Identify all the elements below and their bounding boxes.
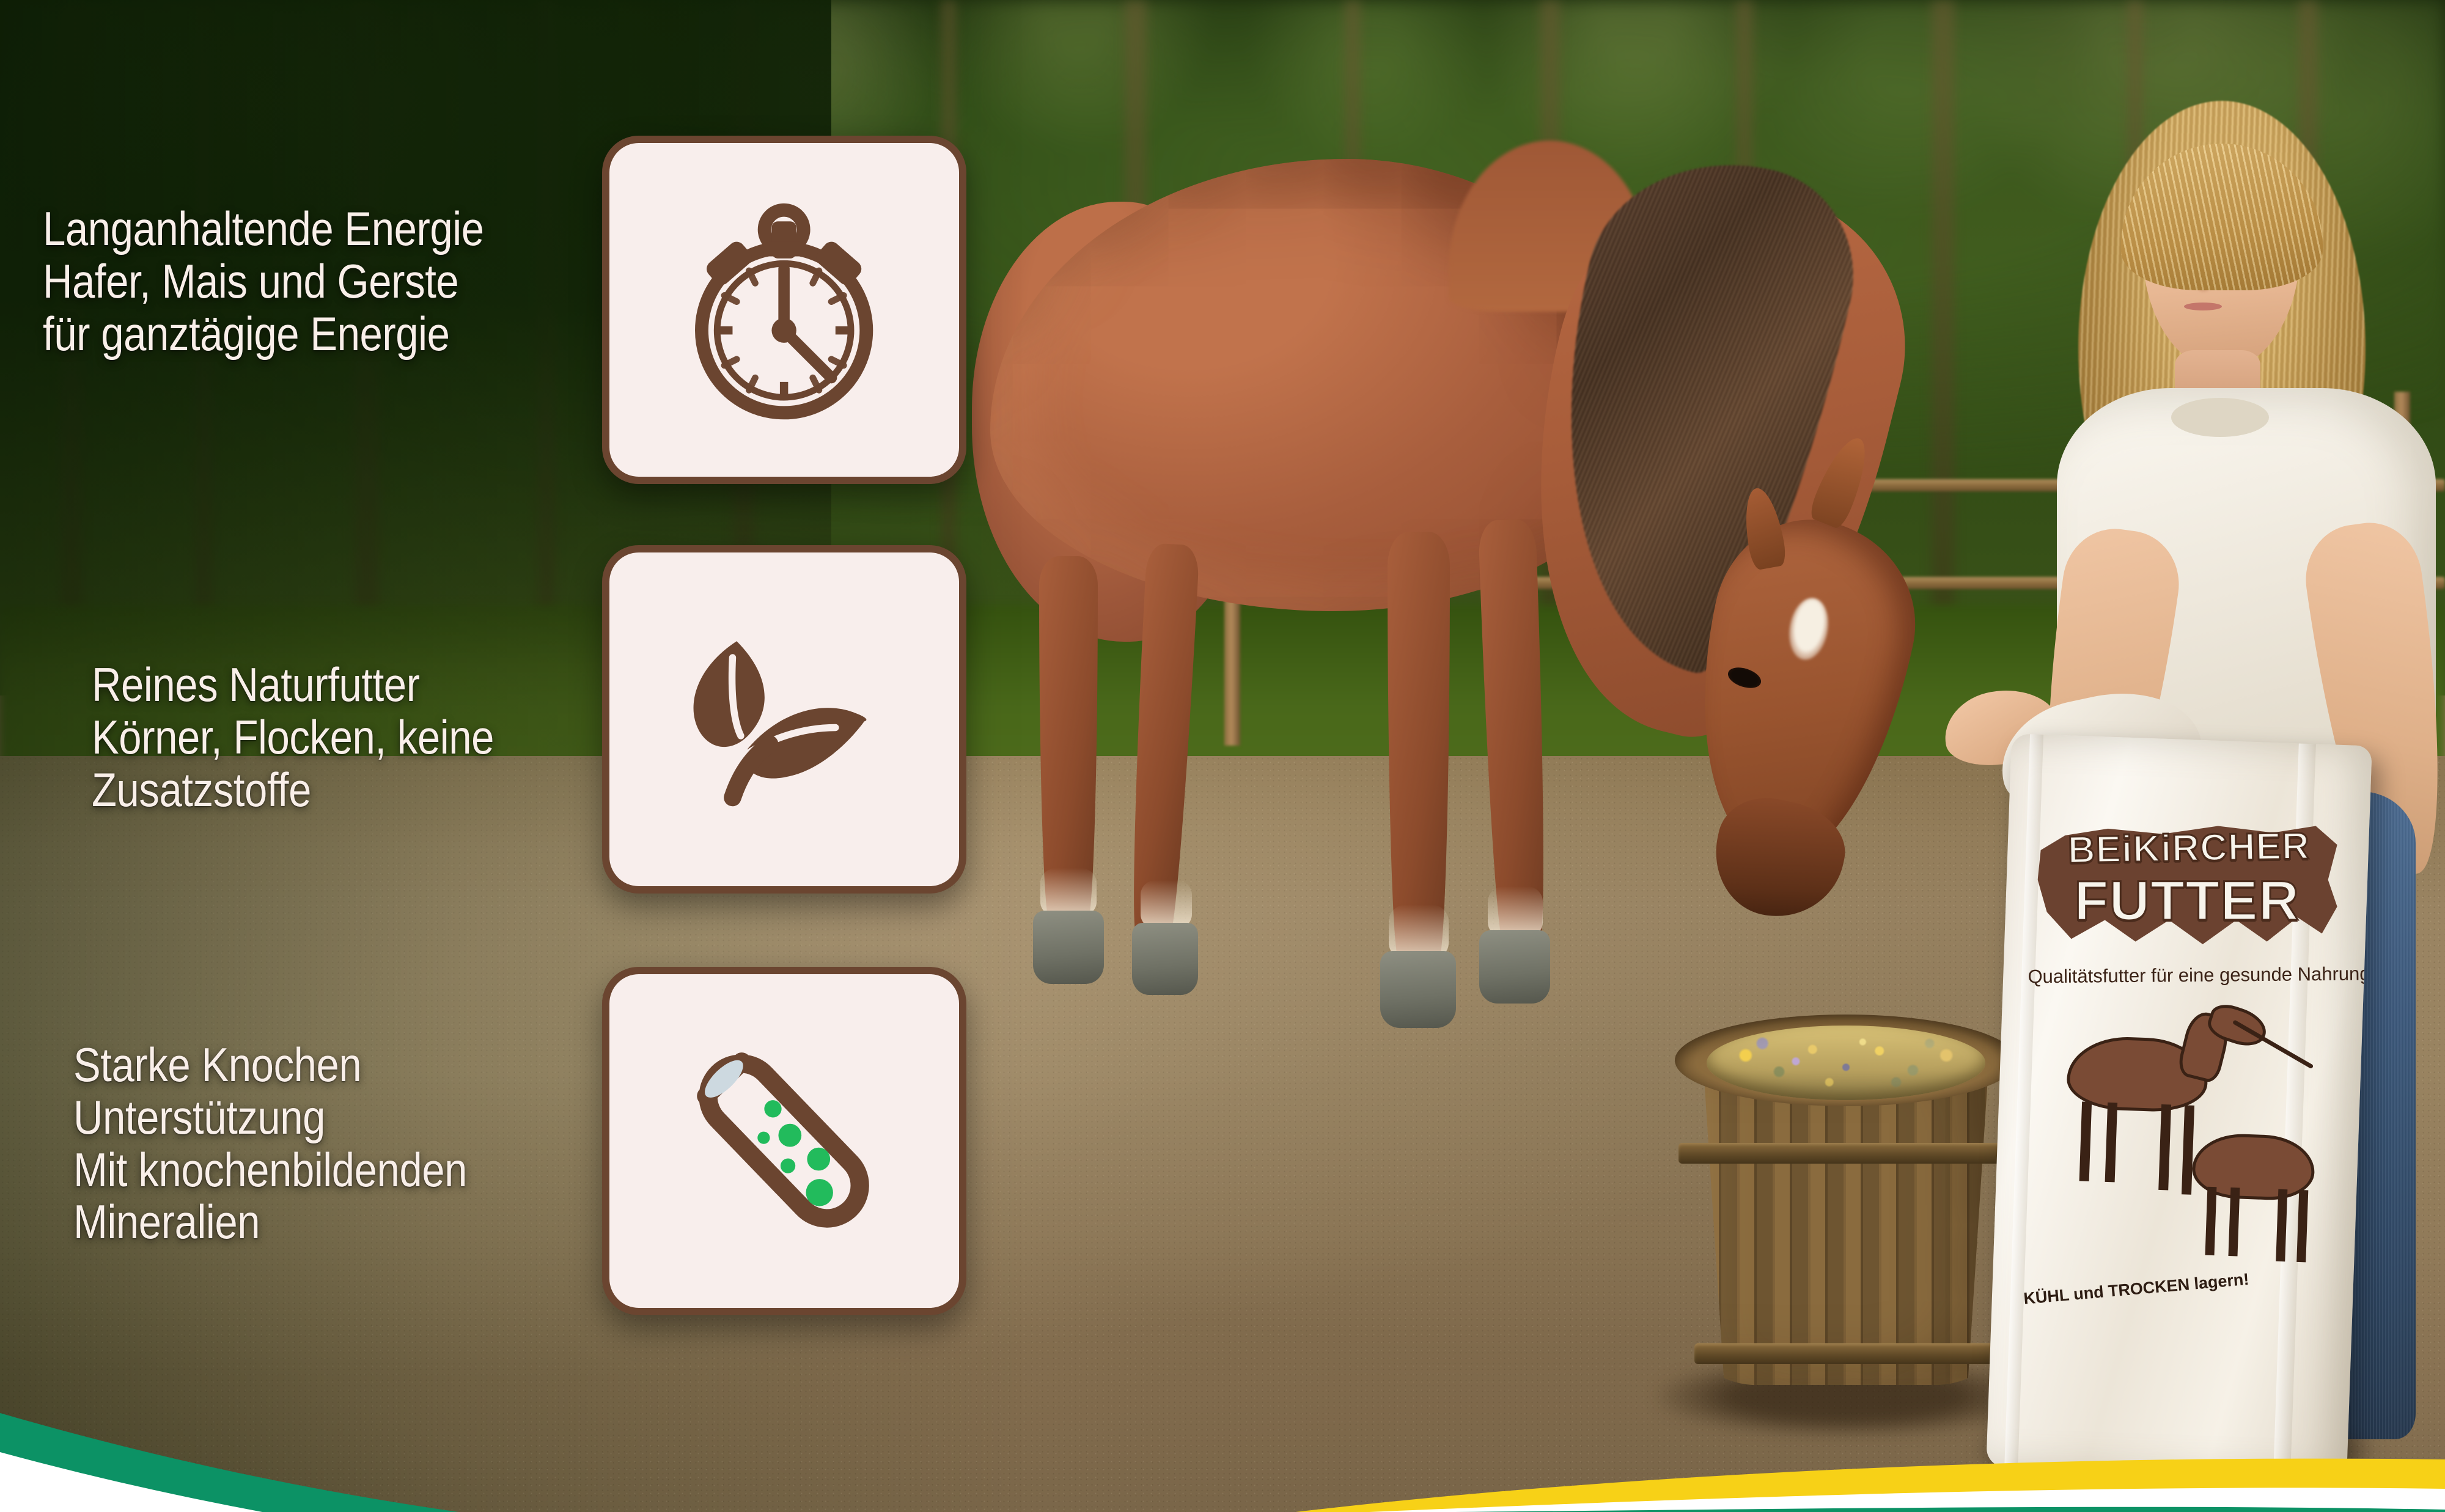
bag-horse-leg xyxy=(2182,1105,2194,1194)
feature-text-energy: Langanhaltende Energie Hafer, Mais und G… xyxy=(43,203,579,360)
shirt-collar xyxy=(2171,398,2269,437)
barrel-hoop-upper xyxy=(1678,1143,2013,1164)
bag-storage-note: KÜHL und TROCKEN lagern! xyxy=(2023,1264,2311,1308)
horse-hoof xyxy=(1479,930,1550,1004)
feature-text-bones: Starke Knochen Unterstützung Mit knochen… xyxy=(73,1039,620,1249)
bag-horse-leg xyxy=(2158,1104,2171,1190)
bag-horse-leg xyxy=(2105,1103,2118,1182)
brand-logo-line1: BEiKiRCHER xyxy=(2035,824,2342,873)
horse-hoof xyxy=(1380,951,1456,1028)
horse-leg xyxy=(1478,519,1550,942)
horse-hoof xyxy=(1033,911,1104,984)
barrel-hoop-lower xyxy=(1694,1343,2000,1364)
feature-text-natural: Reines Naturfutter Körner, Flocken, kein… xyxy=(92,659,617,816)
grain-feed-mix xyxy=(1707,1026,1985,1100)
bag-horse-illustration xyxy=(2036,997,2332,1264)
bag-horse-leg xyxy=(2205,1187,2217,1255)
product-feed-bag: BEiKiRCHER FUTTER Qualitätsfutter für ei… xyxy=(1986,733,2372,1479)
horse-sock xyxy=(1040,868,1097,917)
brand-logo: BEiKiRCHER FUTTER xyxy=(2032,813,2342,958)
bag-horse-leg xyxy=(2276,1189,2287,1261)
mouth xyxy=(2184,303,2222,310)
horse-hoof xyxy=(1132,923,1198,995)
horse-sock xyxy=(1141,880,1192,929)
horse-leg xyxy=(1388,532,1450,960)
bag-horse-leg xyxy=(2229,1187,2240,1256)
promo-banner: BEiKiRCHER FUTTER Qualitätsfutter für ei… xyxy=(0,0,2445,1512)
bag-horse-leg xyxy=(2079,1101,2092,1181)
feature-card-energy[interactable] xyxy=(602,136,966,484)
brand-logo-line2: FUTTER xyxy=(2034,869,2340,933)
bag-horse-leg xyxy=(2296,1190,2308,1262)
feed-barrel xyxy=(1675,990,2017,1418)
feature-card-bones[interactable] xyxy=(602,967,966,1315)
test-tube-icon xyxy=(655,1018,913,1264)
bag-tagline: Qualitätsfutter für eine gesunde Nahrung xyxy=(2028,963,2339,988)
feature-card-natural[interactable] xyxy=(602,545,966,894)
leaf-icon xyxy=(655,596,913,843)
stopwatch-icon xyxy=(655,186,913,433)
